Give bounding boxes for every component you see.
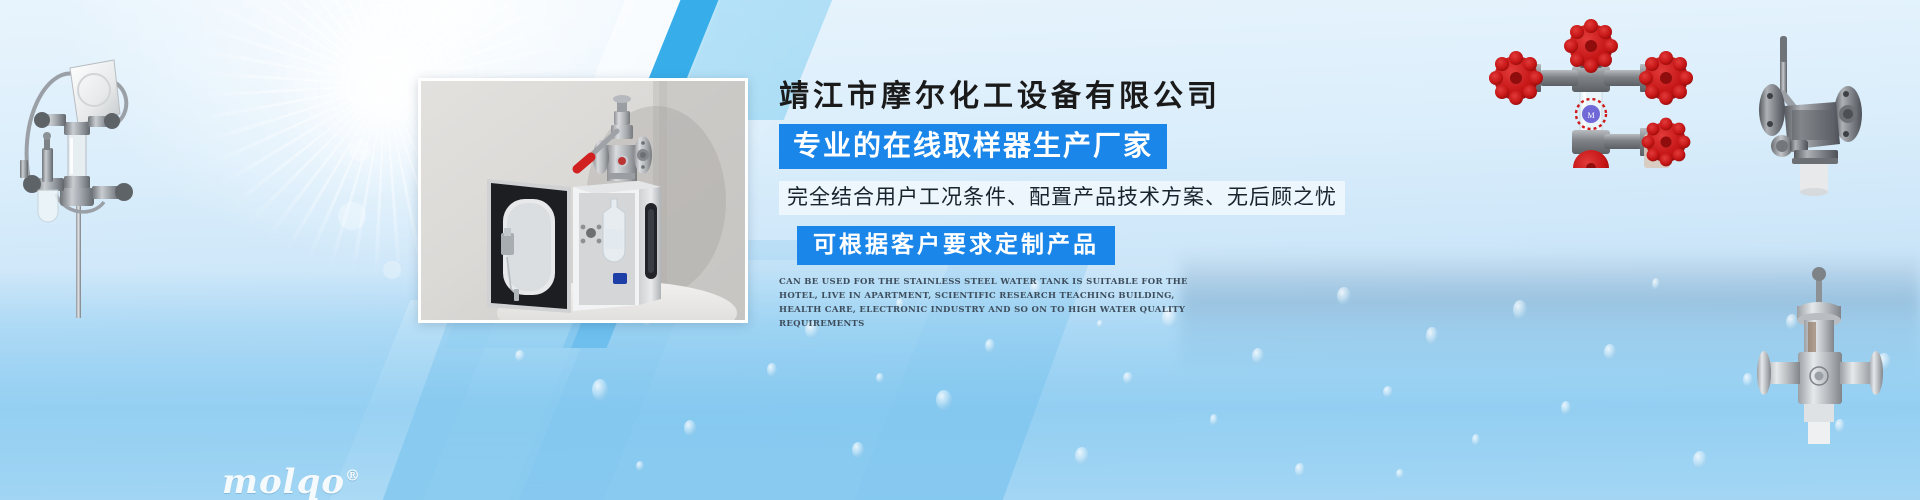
tagline-badge: 专业的在线取样器生产厂家 [779, 124, 1167, 169]
custom-product-badge: 可根据客户要求定制产品 [797, 226, 1115, 265]
promo-banner: M [0, 0, 1920, 500]
flanged-lever-sampling-valve-render [1758, 22, 1920, 222]
online-sampler-assembly-render [8, 18, 158, 318]
brand-watermark: molqo® [222, 462, 361, 500]
valve-manifold-red-handwheels-render: M [1480, 18, 1710, 168]
registered-trademark-icon: ® [345, 467, 361, 485]
watermark-text: molqo [222, 462, 345, 500]
banner-text-block: 靖江市摩尔化工设备有限公司 专业的在线取样器生产厂家 完全结合用户工况条件、配置… [779, 80, 1399, 331]
english-description: CAN BE USED FOR THE STAINLESS STEEL WATE… [779, 275, 1219, 331]
svg-text:M: M [1587, 111, 1594, 120]
flanged-needle-sampling-valve-render [1742, 248, 1920, 448]
company-name: 靖江市摩尔化工设备有限公司 [779, 80, 1399, 113]
stainless-steel-sampling-cabinet-photo [418, 78, 748, 323]
subline-text: 完全结合用户工况条件、配置产品技术方案、无后顾之忧 [779, 181, 1345, 215]
